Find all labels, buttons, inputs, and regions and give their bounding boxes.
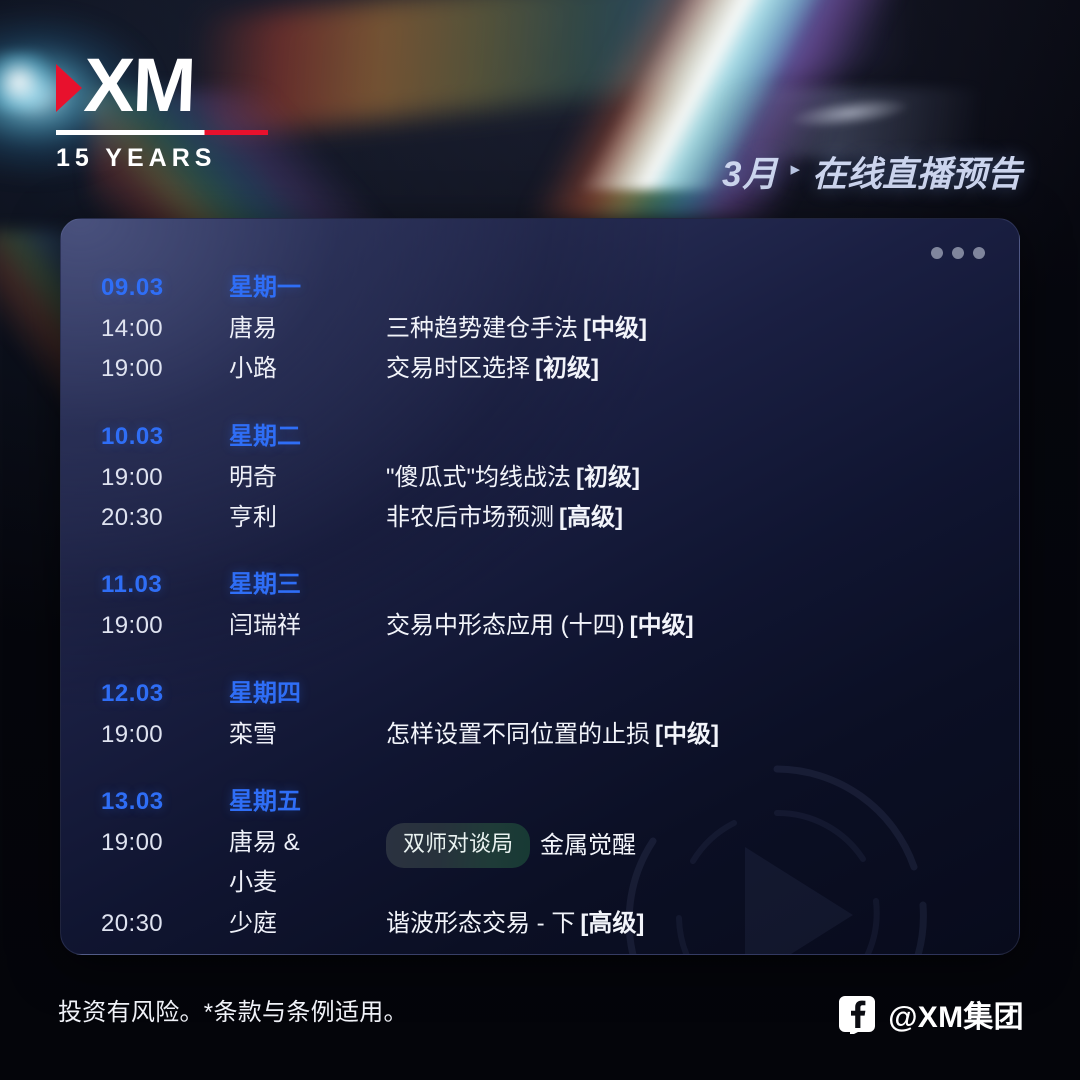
day-weekday: 星期一: [229, 267, 386, 302]
session-topic-cell: 谐波形态交易 - 下[高级]: [386, 904, 1019, 944]
session-topic-cell: 三种趋势建仓手法[中级]: [386, 309, 1019, 349]
session-row[interactable]: 19:00闫瑞祥交易中形态应用 (十四)[中级]: [101, 606, 1019, 646]
session-time: 14:00: [101, 309, 229, 349]
session-level: [高级]: [559, 504, 623, 531]
session-topic-cell: 交易中形态应用 (十四)[中级]: [386, 606, 1019, 646]
red-triangle-icon: [56, 64, 82, 112]
session-host: 小路: [229, 349, 386, 389]
session-topic: "傻瓜式"均线战法: [386, 464, 571, 491]
schedule-list: 09.03星期一14:00唐易三种趋势建仓手法[中级]19:00小路交易时区选择…: [61, 219, 1019, 954]
disclaimer-text: 投资有风险。*条款与条例适用。: [58, 992, 408, 1027]
session-topic: 谐波形态交易 - 下: [386, 910, 575, 937]
day-weekday: 星期三: [229, 564, 386, 599]
day-block: 10.03星期二19:00明奇"傻瓜式"均线战法[初级]20:30亨利非农后市场…: [101, 416, 1019, 539]
day-date: 09.03: [101, 274, 229, 302]
day-header: 13.03星期五: [101, 781, 1019, 816]
day-date: 10.03: [101, 423, 229, 451]
session-topic: 交易时区选择: [386, 355, 530, 382]
session-row[interactable]: 19:00栾雪怎样设置不同位置的止损[中级]: [101, 715, 1019, 755]
day-date: 13.03: [101, 788, 229, 816]
session-topic: 三种趋势建仓手法: [386, 315, 578, 342]
day-weekday: 星期二: [229, 416, 386, 451]
day-header: 09.03星期一: [101, 267, 1019, 302]
session-host: 唐易 & 小麦: [229, 823, 386, 904]
session-topic: 金属觉醒: [540, 832, 636, 859]
xm-logo: XM 15 YEARS: [56, 52, 286, 173]
social-handle-text: @XM集团: [888, 992, 1024, 1036]
day-block: 11.03星期三19:00闫瑞祥交易中形态应用 (十四)[中级]: [101, 564, 1019, 646]
lens-flare-top-streak: [196, 0, 905, 138]
session-badge: 双师对谈局: [386, 823, 530, 868]
day-header: 11.03星期三: [101, 564, 1019, 599]
day-block: 09.03星期一14:00唐易三种趋势建仓手法[中级]19:00小路交易时区选择…: [101, 267, 1019, 390]
session-time: 19:00: [101, 606, 229, 646]
session-row[interactable]: 14:00唐易三种趋势建仓手法[中级]: [101, 309, 1019, 349]
title-main: 在线直播预告: [812, 146, 1022, 197]
session-topic-cell: 怎样设置不同位置的止损[中级]: [386, 715, 1019, 755]
session-level: [中级]: [630, 612, 694, 639]
session-time: 19:00: [101, 349, 229, 389]
facebook-icon[interactable]: [837, 994, 877, 1034]
session-row[interactable]: 20:30亨利非农后市场预测[高级]: [101, 498, 1019, 538]
session-topic-cell: "傻瓜式"均线战法[初级]: [386, 458, 1019, 498]
logo-mark: XM: [56, 52, 286, 124]
session-row[interactable]: 20:30少庭谐波形态交易 - 下[高级]: [101, 904, 1019, 944]
session-time: 19:00: [101, 823, 229, 863]
day-weekday: 星期五: [229, 781, 386, 816]
session-level: [高级]: [580, 910, 644, 937]
page-title: 3月 ▸ 在线直播预告: [722, 146, 1022, 197]
session-row[interactable]: 19:00明奇"傻瓜式"均线战法[初级]: [101, 458, 1019, 498]
session-topic-cell: 双师对谈局金属觉醒: [386, 823, 1019, 868]
schedule-card: 09.03星期一14:00唐易三种趋势建仓手法[中级]19:00小路交易时区选择…: [60, 218, 1020, 955]
day-block: 13.03星期五19:00唐易 & 小麦双师对谈局金属觉醒20:30少庭谐波形态…: [101, 781, 1019, 944]
logo-divider: [56, 130, 268, 135]
title-month: 3月: [722, 146, 778, 197]
session-level: [中级]: [583, 315, 647, 342]
session-row[interactable]: 19:00唐易 & 小麦双师对谈局金属觉醒: [101, 823, 1019, 904]
logo-anniversary: 15 YEARS: [56, 144, 286, 173]
day-date: 11.03: [101, 571, 229, 599]
session-host: 闫瑞祥: [229, 606, 386, 646]
session-host: 亨利: [229, 498, 386, 538]
session-host: 少庭: [229, 904, 386, 944]
day-block: 12.03星期四19:00栾雪怎样设置不同位置的止损[中级]: [101, 673, 1019, 755]
session-level: [初级]: [535, 355, 599, 382]
chevron-right-icon: ▸: [790, 158, 800, 181]
session-row[interactable]: 19:00小路交易时区选择[初级]: [101, 349, 1019, 389]
session-time: 20:30: [101, 904, 229, 944]
session-host: 栾雪: [229, 715, 386, 755]
day-header: 10.03星期二: [101, 416, 1019, 451]
session-topic: 非农后市场预测: [386, 504, 554, 531]
session-topic-cell: 非农后市场预测[高级]: [386, 498, 1019, 538]
session-time: 20:30: [101, 498, 229, 538]
lens-flare-cyan-core: [0, 52, 62, 112]
session-time: 19:00: [101, 715, 229, 755]
lens-flare-spark: [789, 93, 911, 133]
session-level: [中级]: [655, 721, 719, 748]
session-time: 19:00: [101, 458, 229, 498]
day-header: 12.03星期四: [101, 673, 1019, 708]
poster-canvas: XM 15 YEARS 3月 ▸ 在线直播预告: [0, 0, 1080, 1080]
session-host: 明奇: [229, 458, 386, 498]
session-topic-cell: 交易时区选择[初级]: [386, 349, 1019, 389]
day-date: 12.03: [101, 680, 229, 708]
logo-wordmark: XM: [83, 48, 196, 124]
social-handle-group[interactable]: @XM集团: [837, 992, 1024, 1036]
session-level: [初级]: [576, 464, 640, 491]
session-topic: 交易中形态应用 (十四): [386, 612, 625, 639]
day-weekday: 星期四: [229, 673, 386, 708]
session-host: 唐易: [229, 309, 386, 349]
session-topic: 怎样设置不同位置的止损: [386, 721, 650, 748]
